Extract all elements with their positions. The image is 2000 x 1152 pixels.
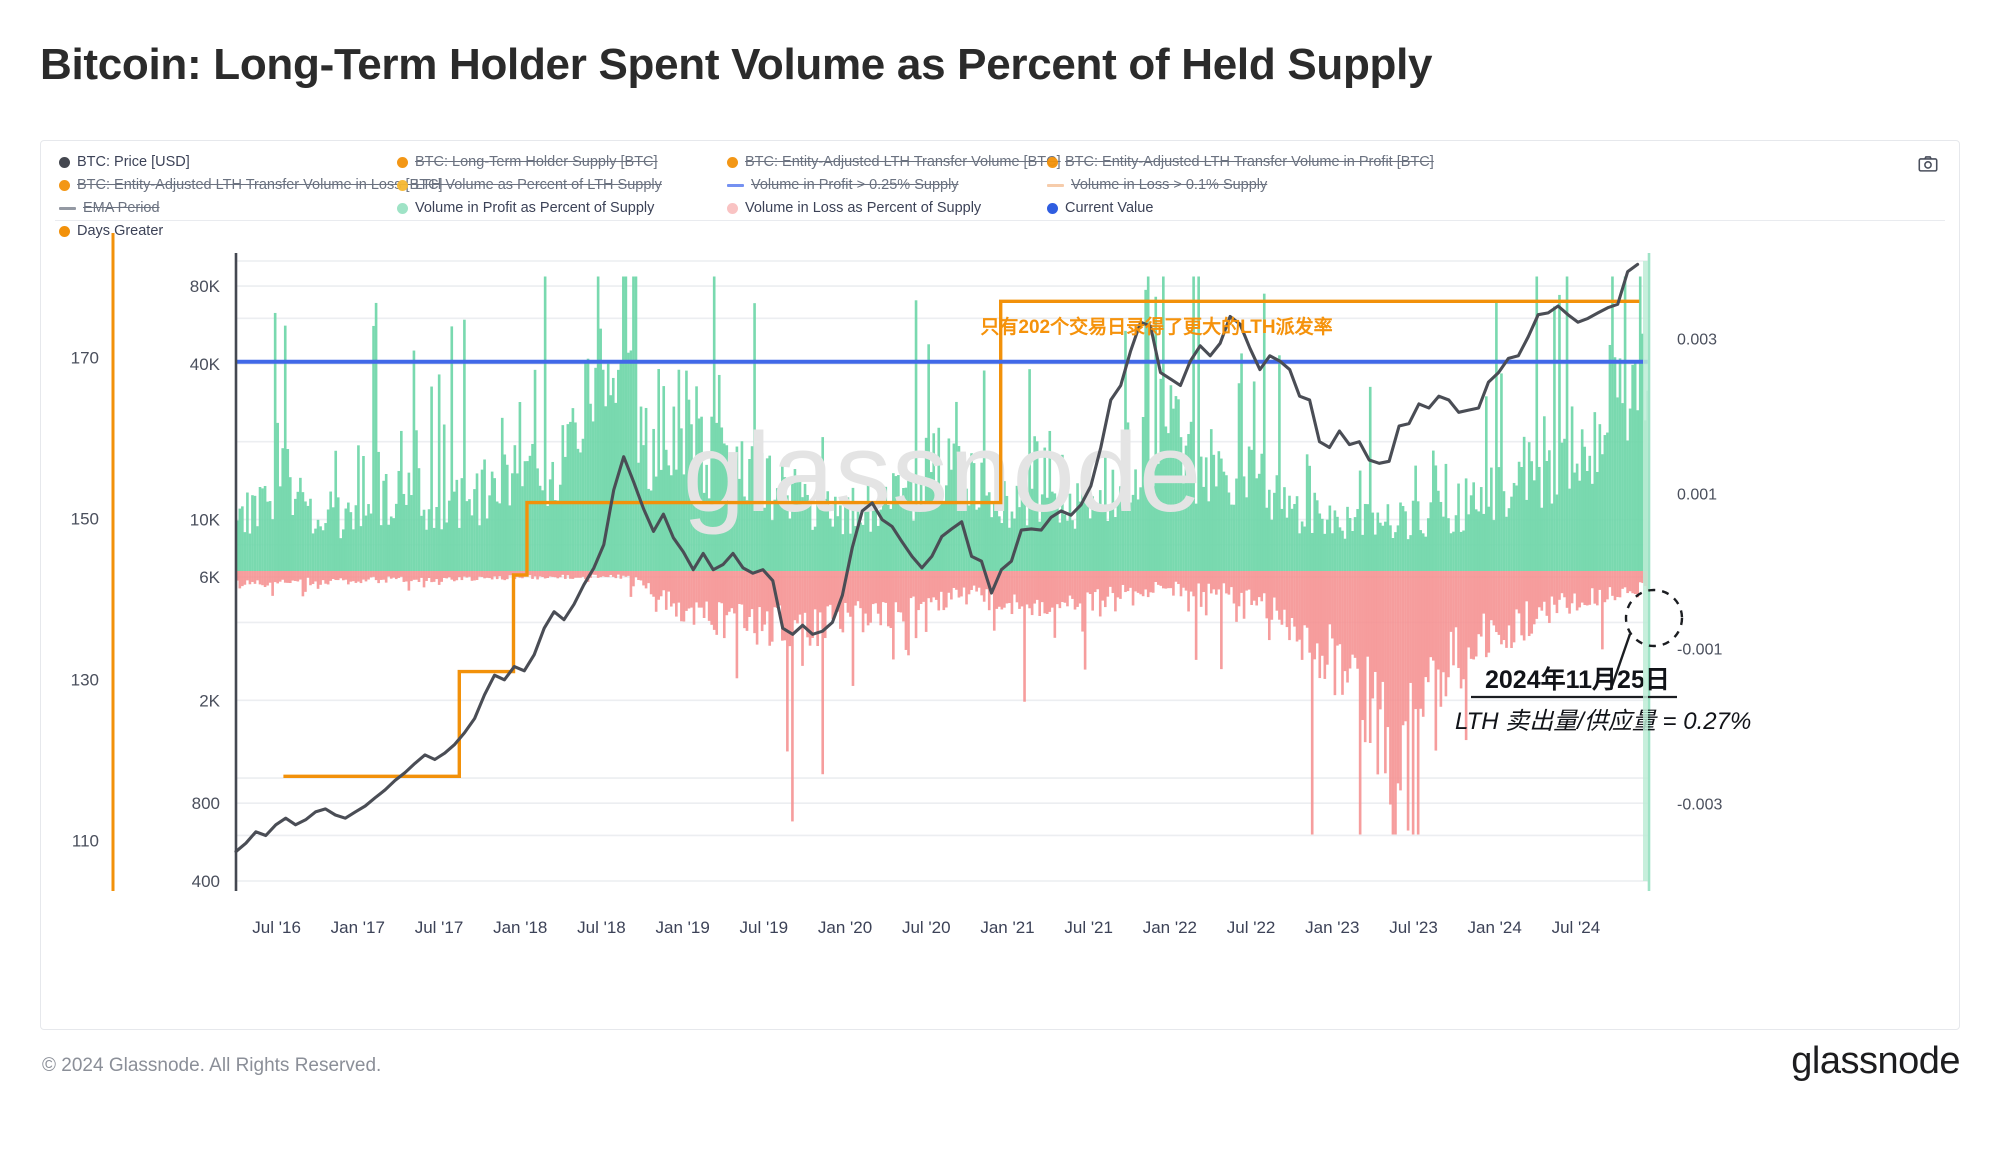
y-axis-days-tick: 110	[72, 832, 99, 851]
y-axis-days-tick: 170	[71, 349, 99, 368]
y-axis-percent-tick: -0.003	[1677, 797, 1722, 814]
x-axis-tick: Jan '20	[818, 918, 872, 937]
y-axis-price-tick: 6K	[199, 568, 220, 587]
callout-value-label: LTH 卖出量/供应量 = 0.27%	[1455, 708, 1751, 735]
x-axis-tick: Jan '21	[980, 918, 1034, 937]
y-axis-price-tick: 40K	[190, 355, 221, 374]
y-axis-days-tick: 130	[71, 671, 99, 690]
chart-page: Bitcoin: Long-Term Holder Spent Volume a…	[0, 0, 2000, 1152]
legend-item[interactable]: BTC: Entity-Adjusted LTH Transfer Volume…	[59, 174, 443, 197]
legend-item[interactable]: Volume in Profit as Percent of Supply	[397, 197, 654, 220]
x-axis-tick: Jan '23	[1305, 918, 1359, 937]
legend-swatch-line-icon	[1047, 184, 1064, 187]
legend-swatch-line-icon	[727, 184, 744, 187]
x-axis-tick: Jul '17	[415, 918, 464, 937]
y-axis-price-tick: 10K	[190, 511, 221, 530]
copyright-text: © 2024 Glassnode. All Rights Reserved.	[42, 1055, 381, 1077]
x-axis-tick: Jan '24	[1468, 918, 1522, 937]
x-axis-tick: Jul '22	[1227, 918, 1276, 937]
legend-item-label: EMA Period	[83, 197, 160, 220]
y-axis-price-tick: 400	[192, 872, 220, 891]
y-axis-percent-tick: -0.001	[1677, 642, 1722, 659]
brand-logo: glassnode	[1791, 1040, 1960, 1083]
y-axis-price-tick: 800	[192, 794, 220, 813]
legend-item-label: BTC: Price [USD]	[77, 151, 190, 174]
y-axis-days-tick: 150	[71, 510, 99, 529]
legend-swatch-dot-icon	[59, 157, 70, 168]
legend-item-label: Volume in Profit > 0.25% Supply	[751, 174, 959, 197]
legend-item-label: LTH Volume as Percent of LTH Supply	[415, 174, 662, 197]
legend-swatch-dot-icon	[1047, 157, 1058, 168]
x-axis-tick: Jul '21	[1064, 918, 1113, 937]
x-axis-tick: Jul '18	[577, 918, 626, 937]
legend-swatch-dot-icon	[59, 180, 70, 191]
legend-item[interactable]: Volume in Profit > 0.25% Supply	[727, 174, 959, 197]
legend-divider	[55, 220, 1945, 221]
watermark: glassnode	[683, 410, 1203, 535]
legend-item[interactable]: Volume in Loss as Percent of Supply	[727, 197, 981, 220]
chart-plot-area: glassnode80K40K10K6K2K800400170150130110…	[41, 233, 1959, 1029]
legend-swatch-dot-icon	[727, 157, 738, 168]
y-axis-percent-tick: 0.003	[1677, 332, 1717, 349]
x-axis-tick: Jan '19	[655, 918, 709, 937]
page-title: Bitcoin: Long-Term Holder Spent Volume a…	[40, 40, 1432, 90]
legend-row: BTC: Entity-Adjusted LTH Transfer Volume…	[55, 174, 1839, 197]
y-axis-price-tick: 2K	[199, 691, 220, 710]
chart-svg: glassnode80K40K10K6K2K800400170150130110…	[41, 233, 1959, 1029]
legend-item-label: Volume in Loss as Percent of Supply	[745, 197, 981, 220]
legend-item[interactable]: BTC: Long-Term Holder Supply [BTC]	[397, 151, 658, 174]
legend-item[interactable]: EMA Period	[59, 197, 160, 220]
legend-item[interactable]: Volume in Loss > 0.1% Supply	[1047, 174, 1267, 197]
legend-swatch-dot-icon	[397, 203, 408, 214]
legend-item-label: Volume in Loss > 0.1% Supply	[1071, 174, 1267, 197]
chart-card: BTC: Price [USD]BTC: Long-Term Holder Su…	[40, 140, 1960, 1030]
legend-item[interactable]: Current Value	[1047, 197, 1153, 220]
callout-date-label: 2024年11月25日	[1485, 665, 1670, 694]
legend-item-label: Volume in Profit as Percent of Supply	[415, 197, 654, 220]
y-axis-percent-tick: 0.001	[1677, 487, 1717, 504]
camera-icon[interactable]	[1915, 151, 1941, 177]
x-axis-tick: Jan '17	[331, 918, 385, 937]
legend-swatch-dot-icon	[397, 157, 408, 168]
legend-swatch-line-icon	[59, 207, 76, 210]
legend-item[interactable]: BTC: Price [USD]	[59, 151, 190, 174]
legend-swatch-dot-icon	[727, 203, 738, 214]
chart-legend: BTC: Price [USD]BTC: Long-Term Holder Su…	[55, 151, 1839, 243]
loss-volume-bars	[236, 571, 1649, 835]
legend-item-label: BTC: Long-Term Holder Supply [BTC]	[415, 151, 658, 174]
legend-item[interactable]: BTC: Entity-Adjusted LTH Transfer Volume…	[1047, 151, 1434, 174]
x-axis-tick: Jul '20	[902, 918, 951, 937]
legend-swatch-dot-icon	[397, 180, 408, 191]
legend-item-label: BTC: Entity-Adjusted LTH Transfer Volume…	[1065, 151, 1434, 174]
legend-item-label: BTC: Entity-Adjusted LTH Transfer Volume…	[77, 174, 443, 197]
legend-item[interactable]: BTC: Entity-Adjusted LTH Transfer Volume…	[727, 151, 1061, 174]
legend-item-label: Current Value	[1065, 197, 1153, 220]
x-axis-tick: Jul '19	[740, 918, 789, 937]
legend-item-label: BTC: Entity-Adjusted LTH Transfer Volume…	[745, 151, 1061, 174]
legend-swatch-dot-icon	[1047, 203, 1058, 214]
legend-item[interactable]: LTH Volume as Percent of LTH Supply	[397, 174, 662, 197]
x-axis-tick: Jul '16	[252, 918, 301, 937]
legend-row: BTC: Price [USD]BTC: Long-Term Holder Su…	[55, 151, 1839, 174]
annotation-orange-text: 只有202个交易日录得了更大的LTH派发率	[980, 315, 1332, 338]
x-axis-tick: Jul '24	[1552, 918, 1601, 937]
x-axis-tick: Jan '18	[493, 918, 547, 937]
callout-circle-marker	[1626, 590, 1682, 646]
current-day-highlight	[1643, 261, 1648, 881]
y-axis-price-tick: 80K	[190, 277, 221, 296]
x-axis-tick: Jan '22	[1143, 918, 1197, 937]
x-axis-tick: Jul '23	[1389, 918, 1438, 937]
legend-row: EMA PeriodVolume in Profit as Percent of…	[55, 197, 1839, 220]
